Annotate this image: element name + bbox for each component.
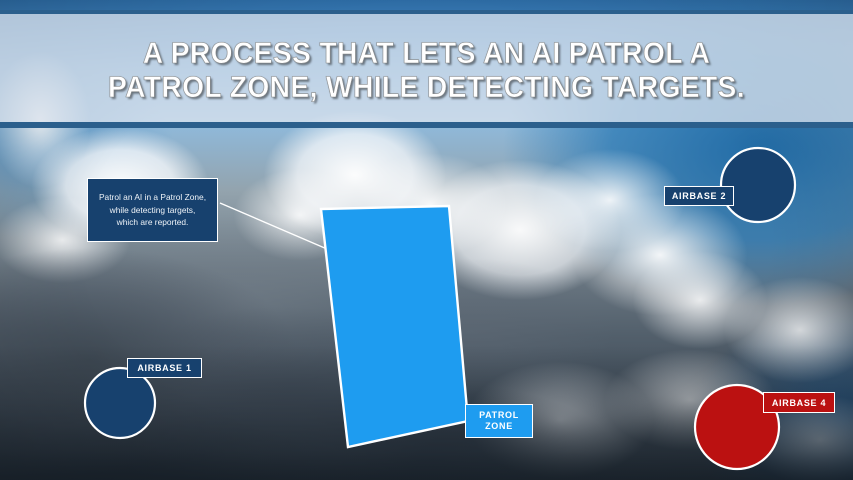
airbase-1-marker[interactable]	[85, 368, 155, 438]
callout-text: Patrol an AI in a Patrol Zone, while det…	[95, 191, 210, 229]
airbase-4-label[interactable]: AIRBASE 4	[763, 392, 835, 413]
callout-connector-line	[220, 203, 327, 249]
callout-box[interactable]: Patrol an AI in a Patrol Zone, while det…	[87, 178, 218, 242]
patrol-zone-polygon[interactable]	[321, 206, 468, 447]
slide-canvas: A PROCESS THAT LETS AN AI PATROL A PATRO…	[0, 0, 853, 480]
airbase-2-label[interactable]: AIRBASE 2	[664, 186, 734, 206]
airbase-2-marker[interactable]	[721, 148, 795, 222]
patrol-zone-label[interactable]: PATROL ZONE	[465, 404, 533, 438]
airbase-1-label[interactable]: AIRBASE 1	[127, 358, 202, 378]
